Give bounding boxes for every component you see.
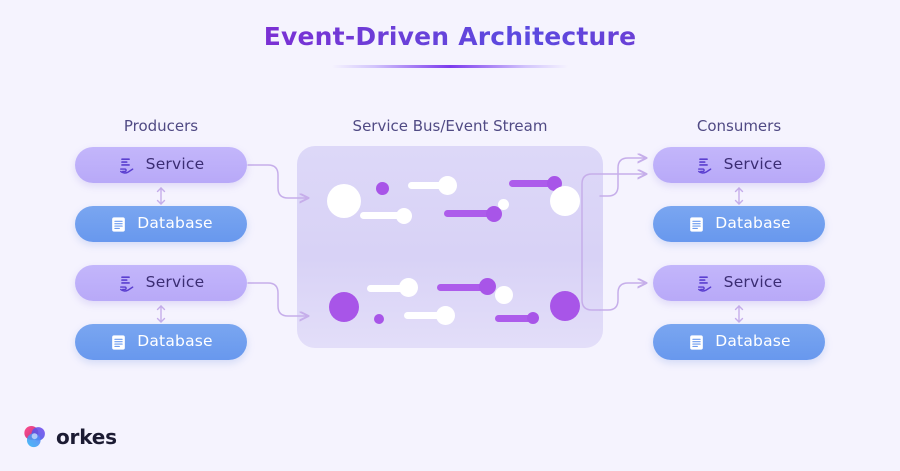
brand-name: orkes (56, 427, 117, 447)
consumer-service-2[interactable]: Service (653, 265, 825, 301)
title-divider (332, 65, 568, 68)
producer-service-1[interactable]: Service (75, 147, 247, 183)
consumer-database-1[interactable]: Database (653, 206, 825, 242)
column-header-consumers: Consumers (653, 117, 825, 135)
service-icon (696, 274, 715, 293)
database-icon (109, 215, 128, 234)
connector-bus-to-consumer2 (600, 283, 646, 310)
event-comet-head (479, 278, 496, 295)
node-label: Database (715, 334, 791, 350)
link-producer-service1-database1 (158, 188, 165, 204)
event-circle (374, 314, 384, 324)
node-label: Service (146, 157, 205, 173)
node-label: Database (137, 216, 213, 232)
event-comet-head (396, 208, 412, 224)
event-circle (550, 291, 580, 321)
consumer-database-2[interactable]: Database (653, 324, 825, 360)
producer-database-2[interactable]: Database (75, 324, 247, 360)
producer-service-2[interactable]: Service (75, 265, 247, 301)
event-circle (329, 292, 359, 322)
link-producer-service2-database2 (158, 306, 165, 322)
column-header-producers: Producers (75, 117, 247, 135)
node-label: Service (146, 275, 205, 291)
node-label: Service (724, 157, 783, 173)
page-title: Event-Driven Architecture (264, 22, 636, 51)
column-header-service-bus: Service Bus/Event Stream (297, 117, 603, 135)
node-label: Service (724, 275, 783, 291)
event-circle (327, 184, 361, 218)
database-icon (109, 333, 128, 352)
link-consumer-service2-database2 (736, 306, 743, 322)
database-icon (687, 333, 706, 352)
event-circle (376, 182, 389, 195)
service-icon (696, 156, 715, 175)
service-bus-panel (297, 146, 603, 348)
event-comet-head (438, 176, 457, 195)
node-label: Database (715, 216, 791, 232)
event-circle (550, 186, 580, 216)
event-comet-head (399, 278, 418, 297)
brand-logo[interactable]: orkes (22, 424, 117, 450)
orkes-logo-icon (22, 424, 48, 450)
producer-database-1[interactable]: Database (75, 206, 247, 242)
consumer-service-1[interactable]: Service (653, 147, 825, 183)
service-icon (118, 156, 137, 175)
event-comet-head (436, 306, 455, 325)
link-consumer-service1-database1 (736, 188, 743, 204)
connector-bus-to-consumer1a (600, 158, 646, 196)
event-comet-head (527, 312, 539, 324)
database-icon (687, 215, 706, 234)
service-icon (118, 274, 137, 293)
page-header: Event-Driven Architecture (0, 22, 900, 68)
event-circle (495, 286, 513, 304)
event-comet-tail (437, 284, 485, 291)
event-circle (498, 199, 509, 210)
node-label: Database (137, 334, 213, 350)
